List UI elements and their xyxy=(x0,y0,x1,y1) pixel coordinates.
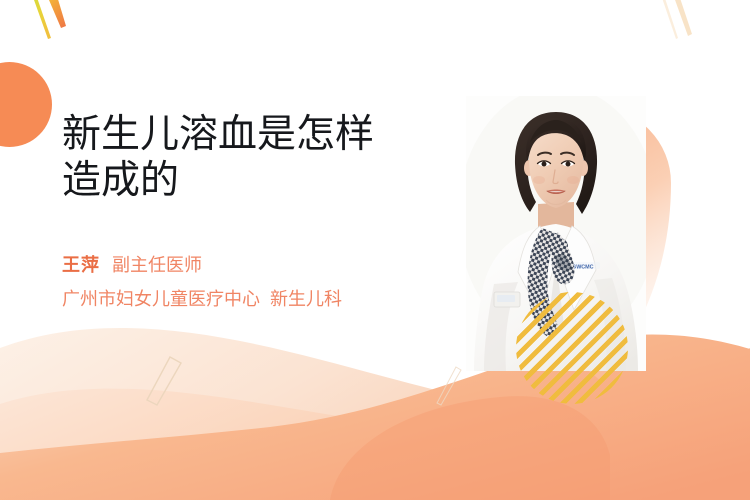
doctor-info-card: GWCMC xyxy=(0,0,750,500)
diagonal-stripes-decoration-left xyxy=(20,0,115,67)
svg-text:GWCMC: GWCMC xyxy=(572,265,594,271)
hospital-name: 广州市妇女儿童医疗中心 xyxy=(62,289,260,309)
doctor-portrait: GWCMC xyxy=(466,96,646,371)
department-name: 新生儿科 xyxy=(270,289,342,309)
page-title: 新生儿溶血是怎样 造成的 xyxy=(62,112,452,204)
doctor-name: 王萍 xyxy=(62,255,100,275)
text-content: 新生儿溶血是怎样 造成的 王萍副主任医师 广州市妇女儿童医疗中心新生儿科 xyxy=(62,112,452,314)
doctor-byline: 王萍副主任医师 xyxy=(62,250,452,280)
outlined-stripe-decoration xyxy=(140,355,190,410)
faint-stripe-decoration xyxy=(430,365,470,410)
striped-circle-decoration xyxy=(516,292,628,404)
doctor-affiliation: 广州市妇女儿童医疗中心新生儿科 xyxy=(62,284,452,314)
diagonal-stripes-decoration-right xyxy=(640,0,720,60)
doctor-job-title: 副主任医师 xyxy=(112,255,202,275)
orange-circle-decoration xyxy=(0,62,52,147)
